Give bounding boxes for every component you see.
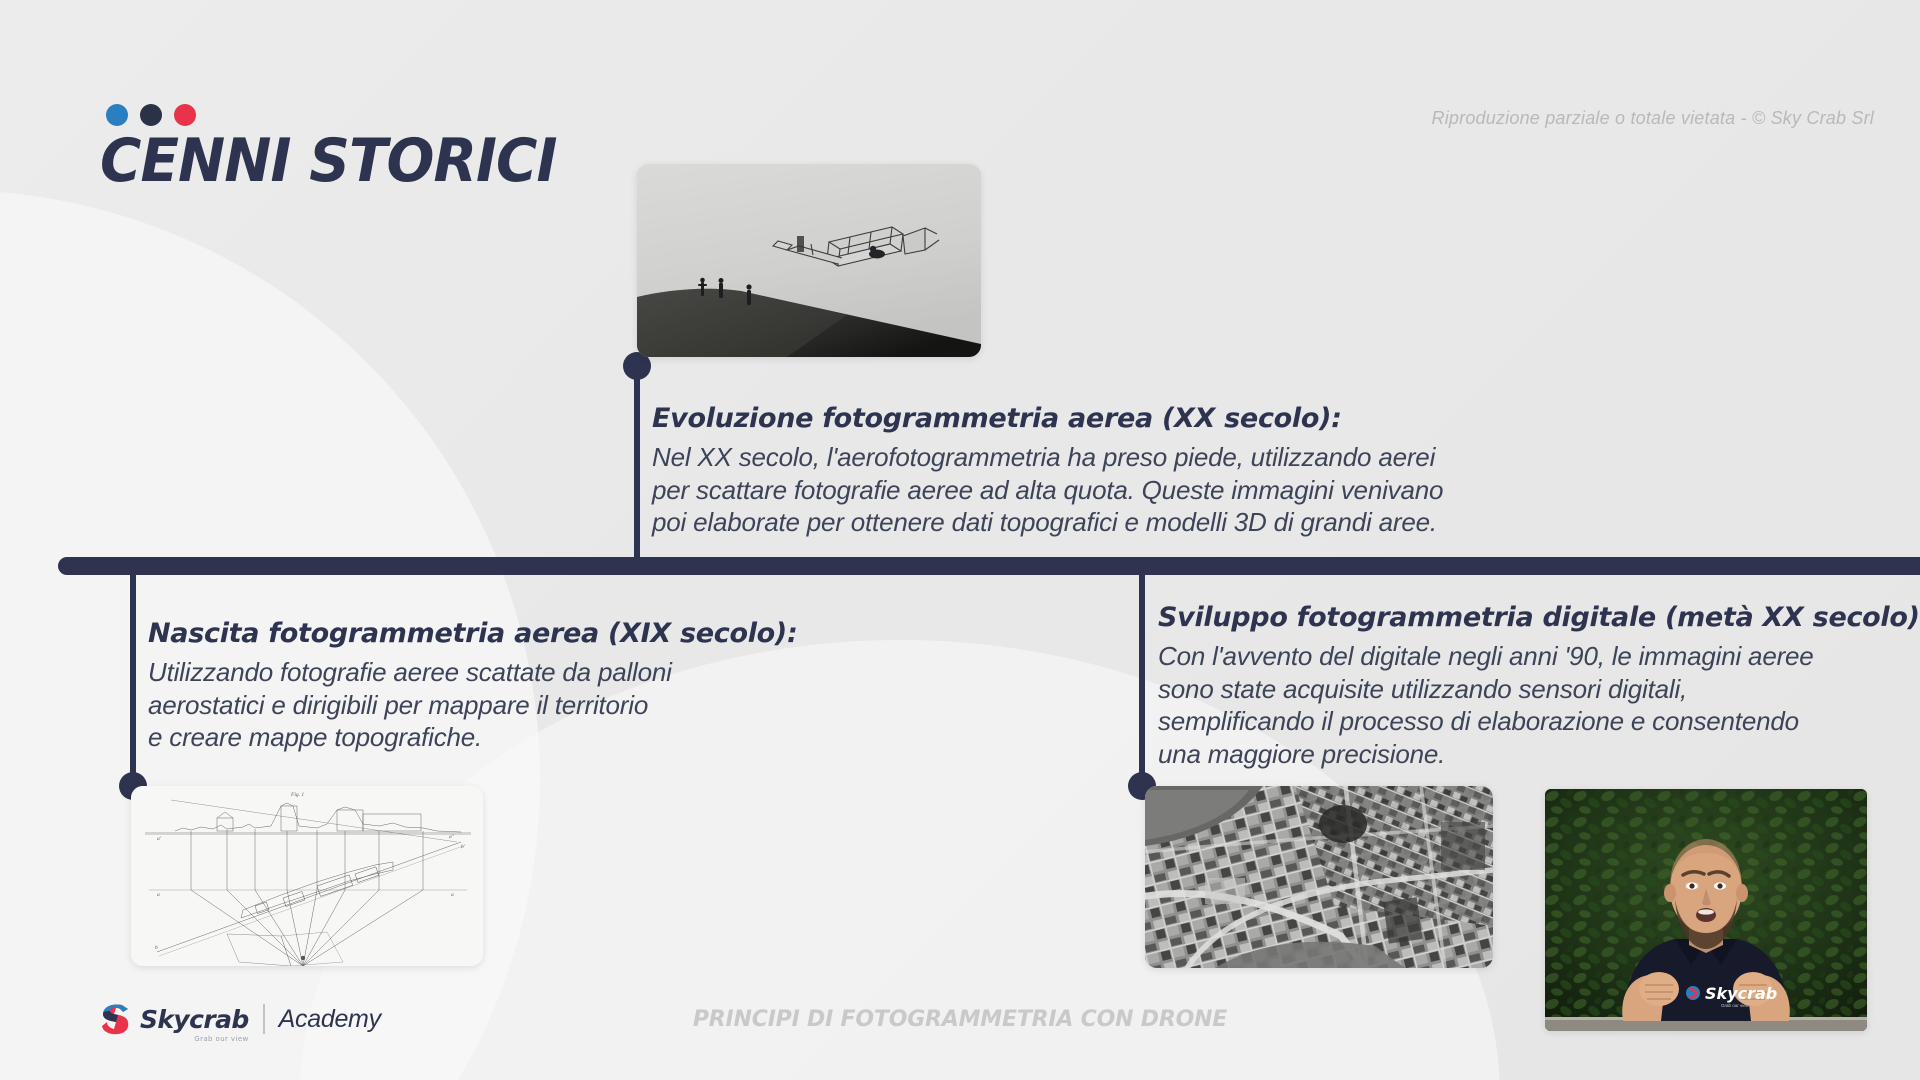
- footer-sub-brand: Academy: [279, 1005, 381, 1034]
- copyright-notice: Riproduzione parziale o totale vietata -…: [1432, 108, 1874, 129]
- dot-navy-icon: [140, 104, 162, 126]
- dot-blue-icon: [106, 104, 128, 126]
- timeline-stem-sviluppo: [1139, 570, 1145, 785]
- video-shirt-logo-text: Skycrab: [1705, 984, 1777, 1003]
- timeline-bar: [58, 557, 1920, 575]
- svg-text:a'': a'': [449, 834, 455, 840]
- svg-text:a: a: [157, 892, 160, 898]
- timeline-stem-evoluzione: [634, 366, 640, 562]
- image-perspective-drawing: Fig. 1 a' a'' a a b b': [131, 786, 483, 966]
- timeline-item-nascita: Nascita fotogrammetria aerea (XIX secolo…: [148, 618, 768, 754]
- footer-brand-tagline: Grab our view: [194, 1035, 248, 1043]
- drawing-figure-label: Fig. 1: [290, 792, 304, 798]
- svg-text:b: b: [155, 945, 158, 951]
- timeline-heading-nascita: Nascita fotogrammetria aerea (XIX secolo…: [148, 618, 768, 649]
- footer-course-title: PRINCIPI DI FOTOGRAMMETRIA CON DRONE: [693, 1007, 1227, 1032]
- skycrab-logo-icon: [100, 1002, 130, 1036]
- timeline-body-sviluppo: Con l'avvento del digitale negli anni '9…: [1158, 640, 1898, 770]
- footer-brand-name: Skycrab Grab our view: [140, 1005, 249, 1034]
- svg-text:Grab our view: Grab our view: [1721, 1003, 1750, 1008]
- timeline-heading-evoluzione: Evoluzione fotogrammetria aerea (XX seco…: [652, 403, 1552, 434]
- timeline-body-evoluzione: Nel XX secolo, l'aerofotogrammetria ha p…: [652, 441, 1552, 539]
- image-historic-glider: [637, 164, 981, 357]
- image-aerial-city: [1145, 786, 1493, 968]
- timeline-body-nascita: Utilizzando fotografie aeree scattate da…: [148, 656, 768, 754]
- timeline-heading-sviluppo: Sviluppo fotogrammetria digitale (metà X…: [1158, 602, 1898, 633]
- timeline-item-evoluzione: Evoluzione fotogrammetria aerea (XX seco…: [652, 403, 1552, 539]
- footer-brand-logo: Skycrab Grab our view Academy: [100, 1002, 381, 1036]
- footer-brand-text: Skycrab: [140, 1005, 249, 1034]
- page-title: CENNI STORICI: [100, 126, 557, 196]
- timeline-item-sviluppo: Sviluppo fotogrammetria digitale (metà X…: [1158, 602, 1898, 770]
- svg-text:a: a: [451, 892, 454, 898]
- image-presenter-video[interactable]: Skycrab Grab our view: [1545, 789, 1867, 1031]
- slide-canvas: CENNI STORICI Riproduzione parziale o to…: [0, 0, 1920, 1080]
- accent-dots: [106, 104, 196, 126]
- timeline-stem-nascita: [130, 570, 136, 785]
- dot-red-icon: [174, 104, 196, 126]
- footer-logo-divider: [263, 1004, 265, 1034]
